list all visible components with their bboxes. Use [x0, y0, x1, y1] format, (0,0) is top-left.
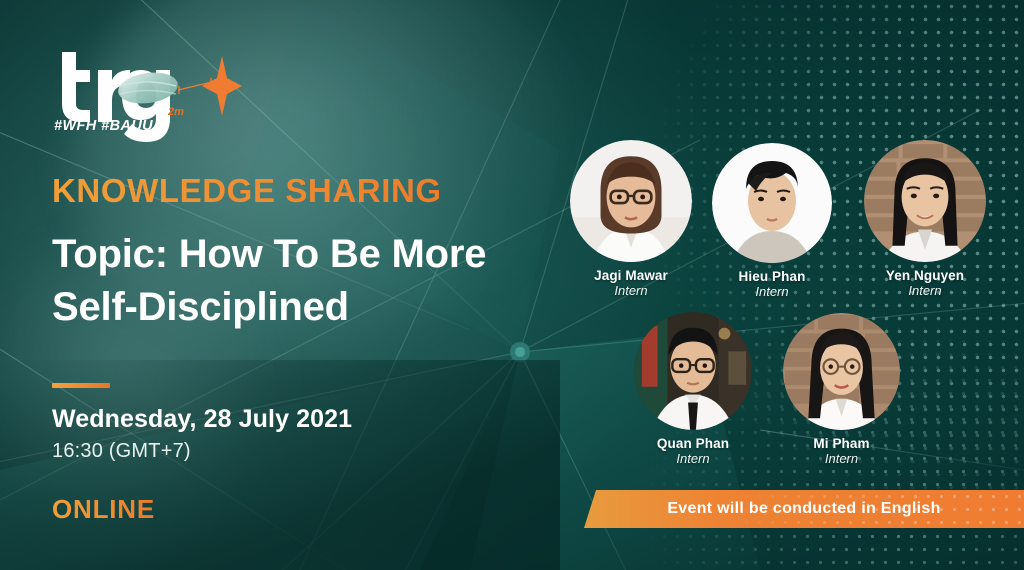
event-time: 16:30 (GMT+7) [52, 440, 191, 463]
speaker-card: Yen Nguyen Intern [864, 140, 986, 298]
event-kicker: KNOWLEDGE SHARING [52, 172, 442, 210]
avatar [783, 313, 900, 430]
speaker-role: Intern [634, 451, 752, 466]
avatar [712, 143, 832, 263]
trg-logo[interactable]: 2m #WFH #BAUU [52, 44, 242, 144]
event-poster: 2m #WFH #BAUU KNOWLEDGE SHARING Topic: H… [0, 0, 1024, 570]
speaker-card: Mi Pham Intern [783, 313, 900, 466]
avatar-photo-jagi-mawar [570, 140, 692, 262]
event-format-badge: ONLINE [52, 494, 155, 525]
title-divider [52, 383, 110, 388]
avatar-photo-hieu-phan [712, 143, 832, 263]
background-bottom-shade [0, 360, 560, 570]
speaker-card: Quan Phan Intern [634, 312, 752, 466]
avatar [634, 312, 752, 430]
avatar-photo-quan-phan [634, 312, 752, 430]
speaker-role: Intern [783, 451, 900, 466]
speaker-role: Intern [712, 284, 832, 299]
speaker-name: Jagi Mawar [570, 268, 692, 283]
event-title: Topic: How To Be More Self-Disciplined [52, 228, 572, 334]
avatar-photo-yen-nguyen [864, 140, 986, 262]
event-date: Wednesday, 28 July 2021 [52, 405, 352, 434]
speaker-card: Jagi Mawar Intern [570, 140, 692, 298]
speaker-name: Yen Nguyen [864, 268, 986, 283]
speaker-name: Hieu Phan [712, 269, 832, 284]
speaker-name: Quan Phan [634, 436, 752, 451]
avatar-photo-mi-pham [783, 313, 900, 430]
logo-tagline: #WFH #BAUU [54, 118, 153, 134]
speaker-name: Mi Pham [783, 436, 900, 451]
speaker-role: Intern [570, 283, 692, 298]
avatar [570, 140, 692, 262]
language-banner-text: Event will be conducted in English [667, 500, 940, 518]
avatar [864, 140, 986, 262]
logo-superscript-2m: 2m [168, 106, 184, 118]
speaker-card: Hieu Phan Intern [712, 143, 832, 299]
speaker-role: Intern [864, 283, 986, 298]
language-banner: Event will be conducted in English [584, 490, 1024, 528]
